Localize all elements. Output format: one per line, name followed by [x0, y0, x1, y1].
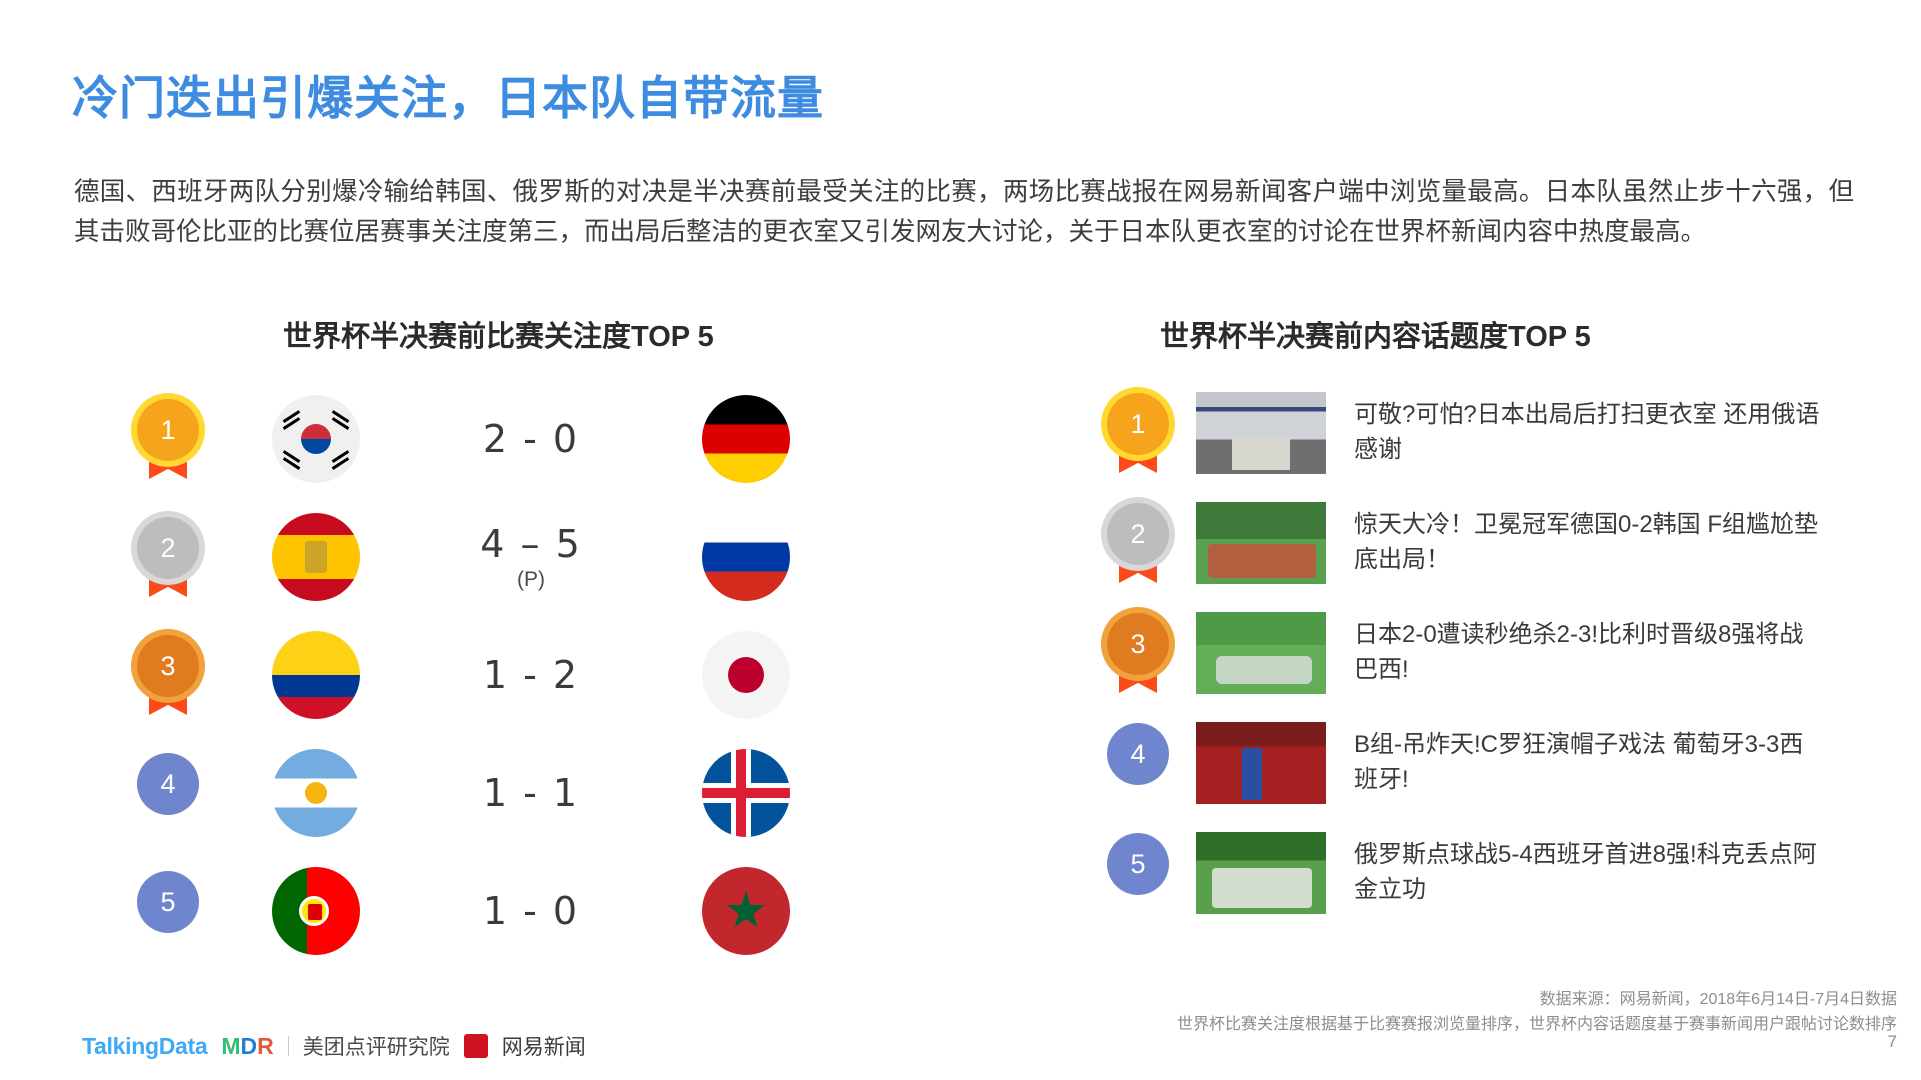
netease-mark-icon [464, 1034, 488, 1058]
team-a-cell [216, 749, 416, 837]
rank-number: 1 [1107, 393, 1169, 455]
team-a-cell [216, 395, 416, 483]
source-note: 数据来源：网易新闻，2018年6月14日-7月4日数据 世界杯比赛关注度根据基于… [1177, 988, 1897, 1038]
korea-south-flag [272, 395, 360, 483]
portugal-flag [272, 867, 360, 955]
score-value: 1 - 2 [483, 653, 579, 697]
team-b-cell [646, 513, 846, 601]
source-line-1: 数据来源：网易新闻，2018年6月14日-7月4日数据 [1177, 988, 1897, 1013]
netease-news-logo: 网易新闻 [502, 1031, 586, 1061]
table-row: 4 1 - 1 [120, 734, 880, 852]
score-cell: 1 - 2 [416, 653, 646, 697]
table-row: 3 1 - 2 [120, 616, 880, 734]
table-row: 5 1 - 0 [120, 852, 880, 970]
japan-flag [702, 631, 790, 719]
mdr-logo-r: R [257, 1033, 274, 1059]
slide-page: 冷门迭出引爆关注，日本队自带流量 德国、西班牙两队分别爆冷输给韩国、俄罗斯的对决… [0, 0, 1921, 1080]
score-cell: 1 - 0 [416, 889, 646, 933]
topic-title[interactable]: 可敬?可怕?日本出局后打扫更衣室 还用俄语感谢 [1354, 398, 1824, 468]
score-cell: 1 - 1 [416, 771, 646, 815]
rank-number: 5 [1107, 833, 1169, 895]
portugal-fans-photo [1196, 722, 1326, 804]
team-b-cell [646, 867, 846, 955]
topic-title[interactable]: 惊天大冷！卫冕冠军德国0-2韩国 F组尴尬垫底出局！ [1354, 508, 1824, 578]
team-b-cell [646, 631, 846, 719]
source-line-2: 世界杯比赛关注度根据基于比赛赛报浏览量排序，世界杯内容话题度基于赛事新闻用户跟帖… [1177, 1013, 1897, 1038]
germany-korea-goal-photo [1196, 502, 1326, 584]
rank-number: 2 [1107, 503, 1169, 565]
page-number: 7 [1888, 1032, 1897, 1052]
score-value: 4 – 5 [480, 522, 582, 566]
mdr-logo-d: D [241, 1033, 258, 1059]
mdr-logo-m: M [221, 1033, 240, 1059]
topic-title[interactable]: B组-吊炸天!C罗狂演帽子戏法 葡萄牙3-3西班牙! [1354, 728, 1824, 798]
medal-icon: 1 [1107, 393, 1169, 473]
team-b-cell [646, 749, 846, 837]
table-row: 2 4 – 5 (P) [120, 498, 880, 616]
russia-flag [702, 513, 790, 601]
list-item: 1 可敬?可怕?日本出局后打扫更衣室 还用俄语感谢 [1090, 378, 1850, 488]
morocco-flag [702, 867, 790, 955]
russia-celebration-photo [1196, 832, 1326, 914]
medal-icon: 1 [137, 399, 199, 479]
score-value: 2 - 0 [483, 417, 579, 461]
score-value: 1 - 1 [483, 771, 579, 815]
content-topic-list: 1 可敬?可怕?日本出局后打扫更衣室 还用俄语感谢 2 惊天大冷！卫冕冠军德国0… [1090, 378, 1850, 928]
medal-icon: 4 [137, 753, 199, 833]
medal-icon: 2 [1107, 503, 1169, 583]
japan-belgium-photo [1196, 612, 1326, 694]
meituan-research-logo: 美团点评研究院 [303, 1031, 450, 1061]
score-value: 1 - 0 [483, 889, 579, 933]
right-section-heading: 世界杯半决赛前内容话题度TOP 5 [1160, 313, 1591, 355]
medal-icon: 3 [137, 635, 199, 715]
germany-flag [702, 395, 790, 483]
spain-flag [272, 513, 360, 601]
list-item: 4 B组-吊炸天!C罗狂演帽子戏法 葡萄牙3-3西班牙! [1090, 708, 1850, 818]
score-note: (P) [517, 568, 545, 592]
footer-logos: TalkingData MDR 美团点评研究院 网易新闻 [82, 1031, 586, 1061]
logo-divider [288, 1036, 289, 1056]
rank-number: 2 [137, 517, 199, 579]
rank-cell: 3 [120, 635, 216, 715]
page-title: 冷门迭出引爆关注，日本队自带流量 [72, 62, 824, 128]
medal-icon: 5 [137, 871, 199, 951]
rank-cell: 4 [1090, 723, 1186, 803]
team-a-cell [216, 631, 416, 719]
topic-title[interactable]: 日本2-0遭读秒绝杀2-3!比利时晋级8强将战巴西! [1354, 618, 1824, 688]
rank-cell: 2 [1090, 503, 1186, 583]
team-a-cell [216, 513, 416, 601]
mdr-logo: MDR [221, 1033, 273, 1060]
intro-paragraph: 德国、西班牙两队分别爆冷输给韩国、俄罗斯的对决是半决赛前最受关注的比赛，两场比赛… [74, 172, 1854, 253]
rank-cell: 5 [1090, 833, 1186, 913]
medal-icon: 3 [1107, 613, 1169, 693]
list-item: 2 惊天大冷！卫冕冠军德国0-2韩国 F组尴尬垫底出局！ [1090, 488, 1850, 598]
iceland-flag [702, 749, 790, 837]
medal-icon: 4 [1107, 723, 1169, 803]
team-a-cell [216, 867, 416, 955]
rank-number: 3 [137, 635, 199, 697]
rank-cell: 2 [120, 517, 216, 597]
medal-icon: 5 [1107, 833, 1169, 913]
left-section-heading: 世界杯半决赛前比赛关注度TOP 5 [283, 313, 714, 355]
team-b-cell [646, 395, 846, 483]
rank-cell: 5 [120, 871, 216, 951]
table-row: 1 2 - 0 [120, 380, 880, 498]
rank-number: 1 [137, 399, 199, 461]
medal-icon: 2 [137, 517, 199, 597]
rank-number: 3 [1107, 613, 1169, 675]
list-item: 3 日本2-0遭读秒绝杀2-3!比利时晋级8强将战巴西! [1090, 598, 1850, 708]
rank-cell: 1 [1090, 393, 1186, 473]
score-cell: 4 – 5 (P) [416, 522, 646, 592]
locker-room-photo [1196, 392, 1326, 474]
argentina-flag [272, 749, 360, 837]
topic-title[interactable]: 俄罗斯点球战5-4西班牙首进8强!科克丢点阿金立功 [1354, 838, 1824, 908]
rank-cell: 4 [120, 753, 216, 833]
score-cell: 2 - 0 [416, 417, 646, 461]
rank-number: 4 [137, 753, 199, 815]
list-item: 5 俄罗斯点球战5-4西班牙首进8强!科克丢点阿金立功 [1090, 818, 1850, 928]
rank-number: 5 [137, 871, 199, 933]
rank-cell: 3 [1090, 613, 1186, 693]
match-attention-list: 1 2 - 0 [120, 380, 880, 970]
talkingdata-logo: TalkingData [82, 1033, 207, 1060]
rank-cell: 1 [120, 399, 216, 479]
colombia-flag [272, 631, 360, 719]
rank-number: 4 [1107, 723, 1169, 785]
